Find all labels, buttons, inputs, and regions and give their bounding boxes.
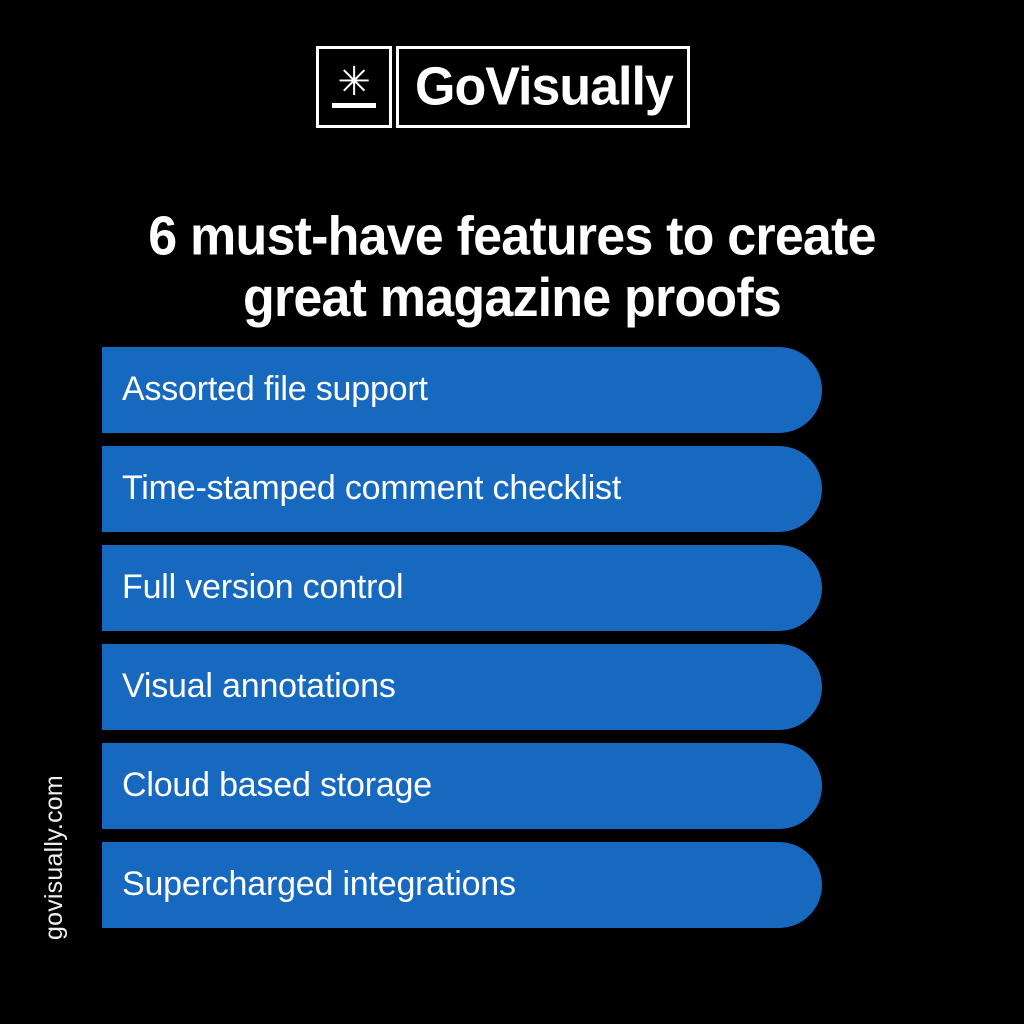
infographic-canvas: ✳ GoVisually 6 must-have features to cre… — [0, 0, 1024, 1024]
feature-label: Cloud based storage — [122, 768, 432, 802]
feature-label: Time-stamped comment checklist — [122, 471, 621, 505]
logo-mark-box: ✳ — [316, 46, 392, 128]
feature-label: Supercharged integrations — [122, 867, 516, 901]
feature-bar[interactable]: Assorted file support — [102, 347, 822, 433]
site-url-vertical[interactable]: govisually.com — [40, 541, 65, 741]
feature-bar[interactable]: Full version control — [102, 545, 822, 631]
logo-wordmark: GoVisually — [415, 60, 673, 114]
feature-bar[interactable]: Supercharged integrations — [102, 842, 822, 928]
feature-label: Visual annotations — [122, 669, 396, 703]
site-url-label: govisually.com — [42, 740, 67, 940]
underscore-bar-icon — [332, 103, 376, 108]
asterisk-icon: ✳ — [337, 68, 371, 97]
logo-name-box: GoVisually — [396, 46, 690, 128]
feature-label: Full version control — [122, 570, 403, 604]
feature-list: Assorted file support Time-stamped comme… — [102, 347, 822, 928]
feature-bar[interactable]: Time-stamped comment checklist — [102, 446, 822, 532]
feature-bar[interactable]: Visual annotations — [102, 644, 822, 730]
brand-logo[interactable]: ✳ GoVisually — [316, 46, 690, 128]
feature-label: Assorted file support — [122, 372, 428, 406]
page-title: 6 must-have features to create great mag… — [0, 207, 1024, 329]
feature-bar[interactable]: Cloud based storage — [102, 743, 822, 829]
